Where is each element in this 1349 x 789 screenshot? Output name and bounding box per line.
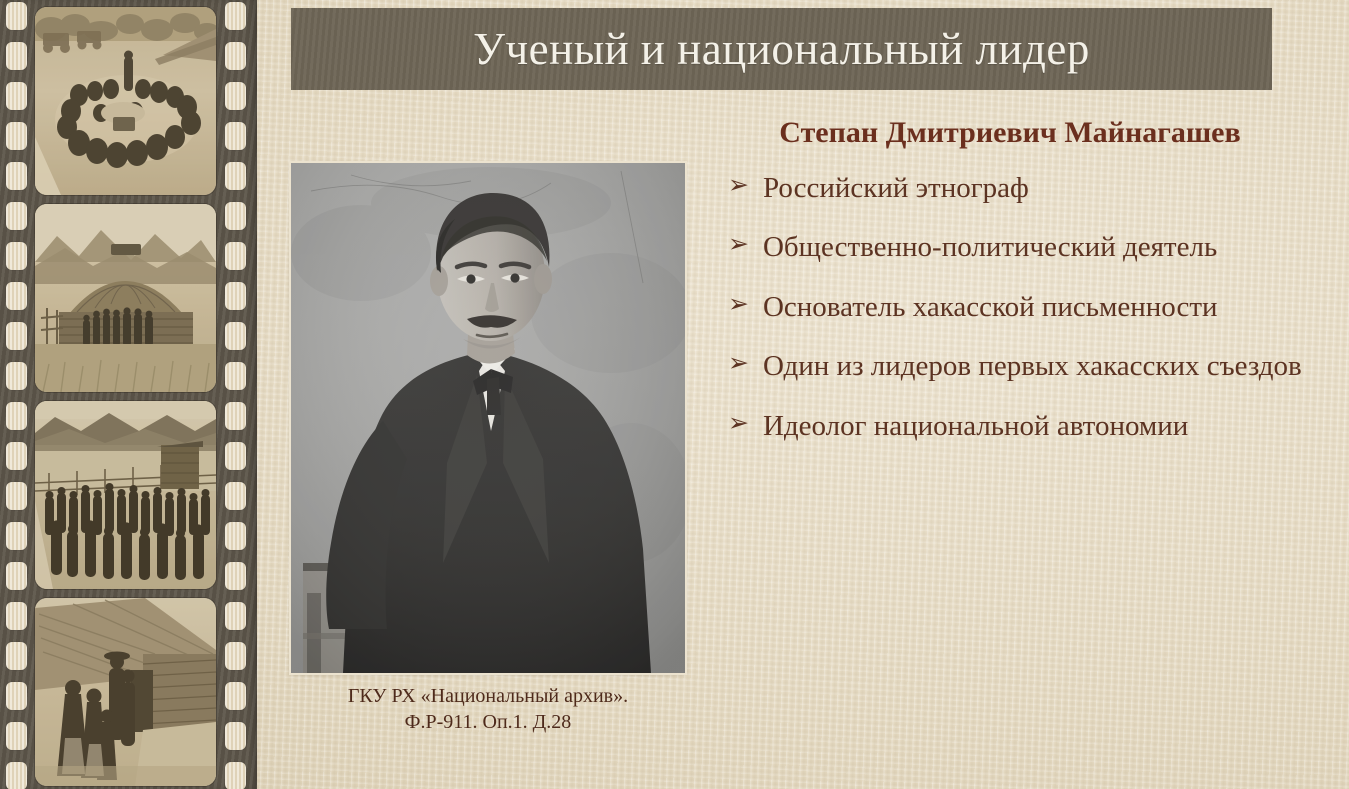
sprocket-hole: [6, 362, 27, 390]
sprocket-hole: [225, 362, 246, 390]
slide-title-banner: Ученый и национальный лидер: [291, 8, 1272, 90]
list-item: ➢ Один из лидеров первых хакасских съезд…: [686, 349, 1334, 384]
filmstrip-photo-4: [35, 598, 216, 786]
content-column: Степан Дмитриевич Майнагашев ➢ Российски…: [686, 116, 1334, 444]
sprocket-hole: [6, 722, 27, 750]
sprocket-hole: [6, 42, 27, 70]
filmstrip-photo-1: [35, 7, 216, 195]
filmstrip-photo-3: [35, 401, 216, 589]
portrait-caption: ГКУ РХ «Национальный архив». Ф.Р-911. Оп…: [291, 683, 685, 735]
sprocket-hole: [225, 42, 246, 70]
sprocket-hole: [6, 562, 27, 590]
sprocket-hole: [225, 682, 246, 710]
person-name-heading: Степан Дмитриевич Майнагашев: [686, 116, 1334, 149]
arrow-bullet-icon: ➢: [728, 290, 749, 321]
bullet-text: Российский этнограф: [763, 171, 1029, 206]
sprocket-hole: [6, 2, 27, 30]
sprocket-hole: [225, 2, 246, 30]
sprocket-hole: [6, 162, 27, 190]
sprocket-hole: [6, 682, 27, 710]
sprocket-holes-right: [224, 0, 246, 789]
caption-line-2: Ф.Р-911. Оп.1. Д.28: [291, 709, 685, 735]
sprocket-hole: [225, 442, 246, 470]
bullet-text: Один из лидеров первых хакасских съездов: [763, 349, 1302, 384]
presentation-slide: Ученый и национальный лидер: [0, 0, 1349, 789]
arrow-bullet-icon: ➢: [728, 171, 749, 202]
arrow-bullet-icon: ➢: [728, 409, 749, 440]
sprocket-hole: [6, 322, 27, 350]
sprocket-hole: [225, 482, 246, 510]
sprocket-hole: [6, 402, 27, 430]
sprocket-hole: [225, 82, 246, 110]
sprocket-hole: [225, 762, 246, 789]
sprocket-hole: [6, 242, 27, 270]
sprocket-hole: [6, 602, 27, 630]
sprocket-hole: [6, 762, 27, 789]
sprocket-hole: [225, 562, 246, 590]
sprocket-hole: [6, 122, 27, 150]
photo-family-icon: [35, 598, 216, 786]
filmstrip-photo-2: [35, 204, 216, 392]
portrait-man-icon: [291, 163, 685, 673]
portrait-block: ГКУ РХ «Национальный архив». Ф.Р-911. Оп…: [291, 163, 685, 735]
arrow-bullet-icon: ➢: [728, 230, 749, 261]
photo-yurt-icon: [35, 204, 216, 392]
sprocket-hole: [225, 522, 246, 550]
sprocket-hole: [6, 282, 27, 310]
sprocket-hole: [6, 202, 27, 230]
list-item: ➢ Российский этнограф: [686, 171, 1334, 206]
sprocket-hole: [6, 642, 27, 670]
arrow-bullet-icon: ➢: [728, 349, 749, 380]
sprocket-hole: [6, 522, 27, 550]
photo-crowd-icon: [35, 401, 216, 589]
sprocket-hole: [225, 162, 246, 190]
portrait-photo: [291, 163, 685, 673]
sprocket-hole: [225, 242, 246, 270]
list-item: ➢ Основатель хакасской письменности: [686, 290, 1334, 325]
sprocket-holes-left: [5, 0, 27, 789]
sprocket-hole: [225, 282, 246, 310]
sprocket-hole: [6, 442, 27, 470]
sprocket-hole: [6, 482, 27, 510]
sprocket-hole: [225, 322, 246, 350]
photo-gathering-icon: [35, 7, 216, 195]
bullet-text: Основатель хакасской письменности: [763, 290, 1218, 325]
bullet-text: Идеолог национальной автономии: [763, 409, 1188, 444]
sprocket-hole: [225, 722, 246, 750]
list-item: ➢ Идеолог национальной автономии: [686, 409, 1334, 444]
filmstrip-frames: [35, 7, 216, 789]
sprocket-hole: [225, 602, 246, 630]
list-item: ➢ Общественно-политический деятель: [686, 230, 1334, 265]
slide-title: Ученый и национальный лидер: [473, 27, 1090, 72]
sprocket-hole: [225, 402, 246, 430]
caption-line-1: ГКУ РХ «Национальный архив».: [291, 683, 685, 709]
filmstrip-decoration: [0, 0, 257, 789]
bullet-list: ➢ Российский этнограф ➢ Общественно-поли…: [686, 171, 1334, 444]
bullet-text: Общественно-политический деятель: [763, 230, 1217, 265]
sprocket-hole: [6, 82, 27, 110]
sprocket-hole: [225, 122, 246, 150]
sprocket-hole: [225, 642, 246, 670]
sprocket-hole: [225, 202, 246, 230]
